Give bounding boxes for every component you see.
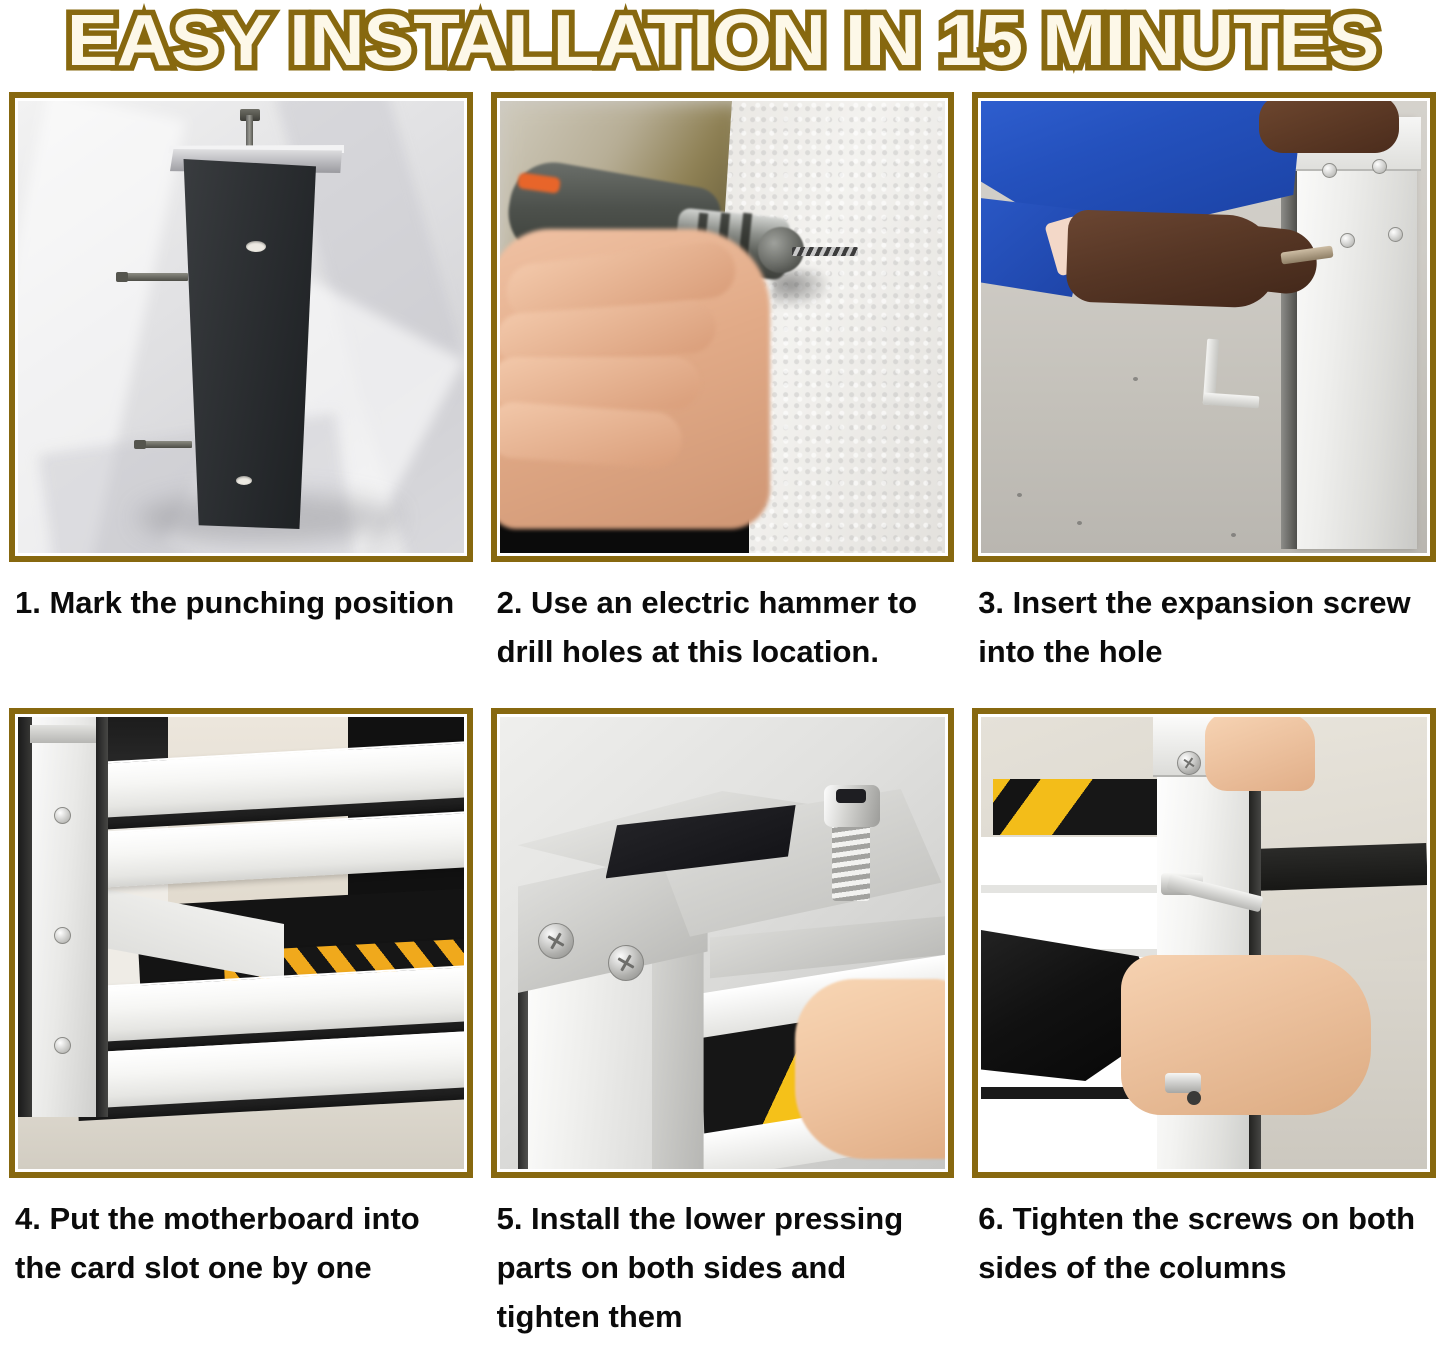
step-6-photo-tighten-column-screws (981, 717, 1427, 1169)
step-card-4: 4. Put the motherboard into the card slo… (0, 708, 482, 1341)
installer-hand (795, 979, 945, 1159)
step-card-1: 1. Mark the punching position (0, 92, 482, 676)
column-card-slot (32, 717, 96, 1117)
aluminium-column (1297, 119, 1417, 549)
step-5-photo-install-lower-pressing-parts (500, 717, 946, 1169)
page-title: EASY INSTALLATION IN 15 MINUTES (67, 2, 1378, 80)
phillips-screw-2 (608, 945, 644, 981)
step-2-photo-drill-holes (500, 101, 946, 553)
slot-screw-3 (54, 1037, 71, 1054)
installer-hand (1121, 955, 1371, 1115)
step-4-photo-frame (9, 708, 473, 1178)
step-4-photo-insert-boards-into-slot (18, 717, 464, 1169)
step-card-5: 5. Install the lower pressing parts on b… (482, 708, 964, 1341)
step-1-caption: 1. Mark the punching position (9, 562, 473, 627)
mounting-hole-lower (236, 476, 252, 485)
step-5-photo-frame (491, 708, 955, 1178)
column-screw-1 (1372, 159, 1387, 174)
side-bolt-lower (1165, 1073, 1201, 1093)
step-card-6: 6. Tighten the screws on both sides of t… (963, 708, 1445, 1341)
column-screw-3 (1388, 227, 1403, 242)
step-2-photo-frame (491, 92, 955, 562)
phillips-screw-1 (538, 923, 574, 959)
step-6-photo-frame (972, 708, 1436, 1178)
expansion-bolt-upper (122, 273, 188, 281)
steps-row-bottom: 4. Put the motherboard into the card slo… (0, 708, 1445, 1341)
header-banner: EASY INSTALLATION IN 15 MINUTES (0, 0, 1445, 92)
column-screw-top-left (1177, 751, 1201, 775)
step-3-caption: 3. Insert the expansion screw into the h… (972, 562, 1436, 676)
column-screw-4 (1340, 233, 1355, 248)
step-6-caption: 6. Tighten the screws on both sides of t… (972, 1178, 1436, 1292)
mounting-hole-upper (246, 241, 266, 252)
column-post (178, 159, 316, 529)
installation-steps-grid: 1. Mark the punching position (0, 92, 1445, 1341)
drill-bit (792, 247, 858, 256)
step-card-2: 2. Use an electric hammer to drill holes… (482, 92, 964, 676)
column-screw-2 (1322, 163, 1337, 178)
step-3-photo-frame (972, 92, 1436, 562)
steps-row-top: 1. Mark the punching position (0, 92, 1445, 676)
expansion-bolt-lower (140, 441, 192, 448)
step-4-caption: 4. Put the motherboard into the card slo… (9, 1178, 473, 1292)
step-2-caption: 2. Use an electric hammer to drill holes… (491, 562, 955, 676)
step-card-3: 3. Insert the expansion screw into the h… (963, 92, 1445, 676)
hex-bolt (820, 785, 876, 905)
worker-hand-upper (1259, 101, 1399, 153)
step-3-photo-insert-expansion-screw (981, 101, 1427, 553)
step-5-caption: 5. Install the lower pressing parts on b… (491, 1178, 955, 1341)
step-1-photo-frame (9, 92, 473, 562)
step-1-photo-mark-punching-position (18, 101, 464, 553)
slot-screw-2 (54, 927, 71, 944)
slot-screw-1 (54, 807, 71, 824)
